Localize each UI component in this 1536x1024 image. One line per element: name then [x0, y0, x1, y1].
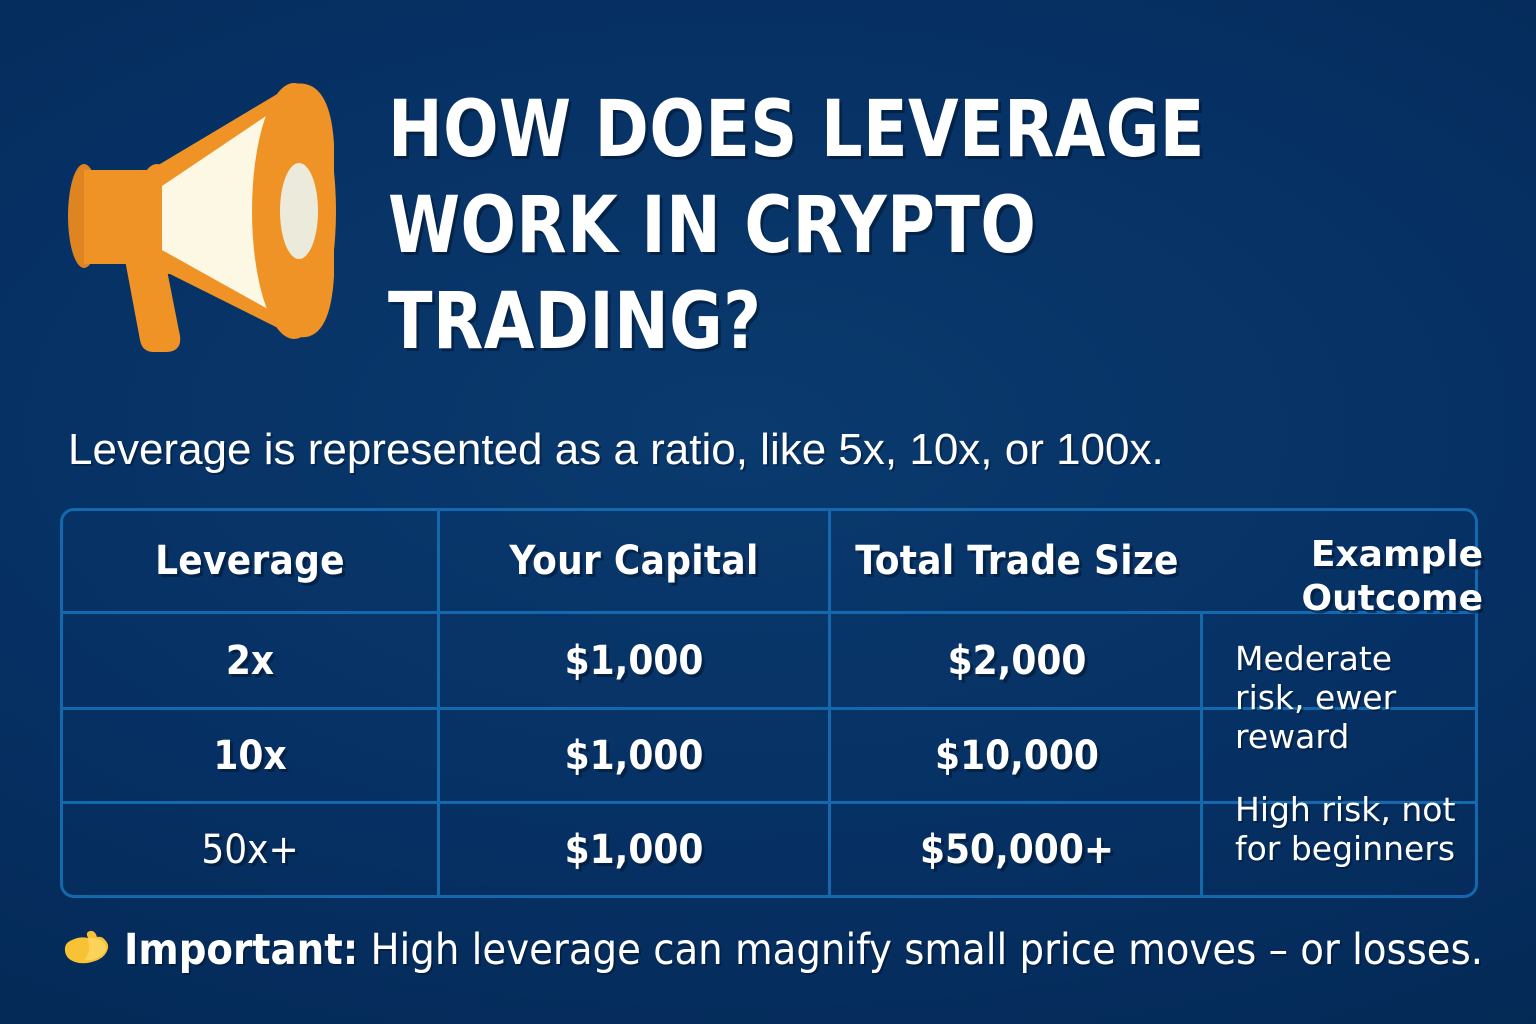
pointing-right-hand-icon [62, 925, 112, 975]
table-header-example-outcome: Example Outcome [1223, 533, 1483, 621]
cell-capital-row2: $1,000 [440, 710, 828, 801]
table-header-leverage: Leverage [63, 511, 437, 611]
leverage-table: Leverage Your Capital Total Trade Size 2… [60, 508, 1478, 898]
cell-total-row2: $10,000 [831, 710, 1203, 801]
table-header-example-outcome-line2: Outcome [1223, 577, 1483, 621]
table-header-capital: Your Capital [440, 511, 828, 611]
megaphone-icon [62, 78, 362, 353]
table-header-example-outcome-line1: Example [1223, 533, 1483, 577]
infographic-canvas: HOW DOES LEVERAGE WORK IN CRYPTO TRADING… [0, 0, 1536, 1024]
cell-capital-row1: $1,000 [440, 614, 828, 707]
subtitle: Leverage is represented as a ratio, like… [68, 421, 1164, 479]
title-line-3: TRADING? [388, 274, 1327, 370]
title-line-2: WORK IN CRYPTO [388, 178, 1327, 274]
cell-outcome-row1: Mederate risk, ewer reward [1235, 639, 1465, 756]
footer-text: Important: High leverage can magnify sma… [124, 925, 1483, 975]
cell-total-row3: $50,000+ [831, 804, 1203, 895]
cell-leverage-row3: 50x+ [63, 804, 437, 895]
footer-label: Important: [124, 925, 358, 975]
table-header-trade-size: Total Trade Size [831, 511, 1203, 611]
cell-total-row1: $2,000 [831, 614, 1203, 707]
cell-capital-row3: $1,000 [440, 804, 828, 895]
cell-leverage-row1: 2x [63, 614, 437, 707]
title-line-1: HOW DOES LEVERAGE [388, 82, 1327, 178]
cell-leverage-row2: 10x [63, 710, 437, 801]
page-title: HOW DOES LEVERAGE WORK IN CRYPTO TRADING… [388, 82, 1327, 370]
cell-outcome-row3: High risk, not for beginners [1235, 790, 1465, 868]
footer-body: High leverage can magnify small price mo… [358, 925, 1483, 975]
footer-note: Important: High leverage can magnify sma… [62, 925, 1483, 975]
